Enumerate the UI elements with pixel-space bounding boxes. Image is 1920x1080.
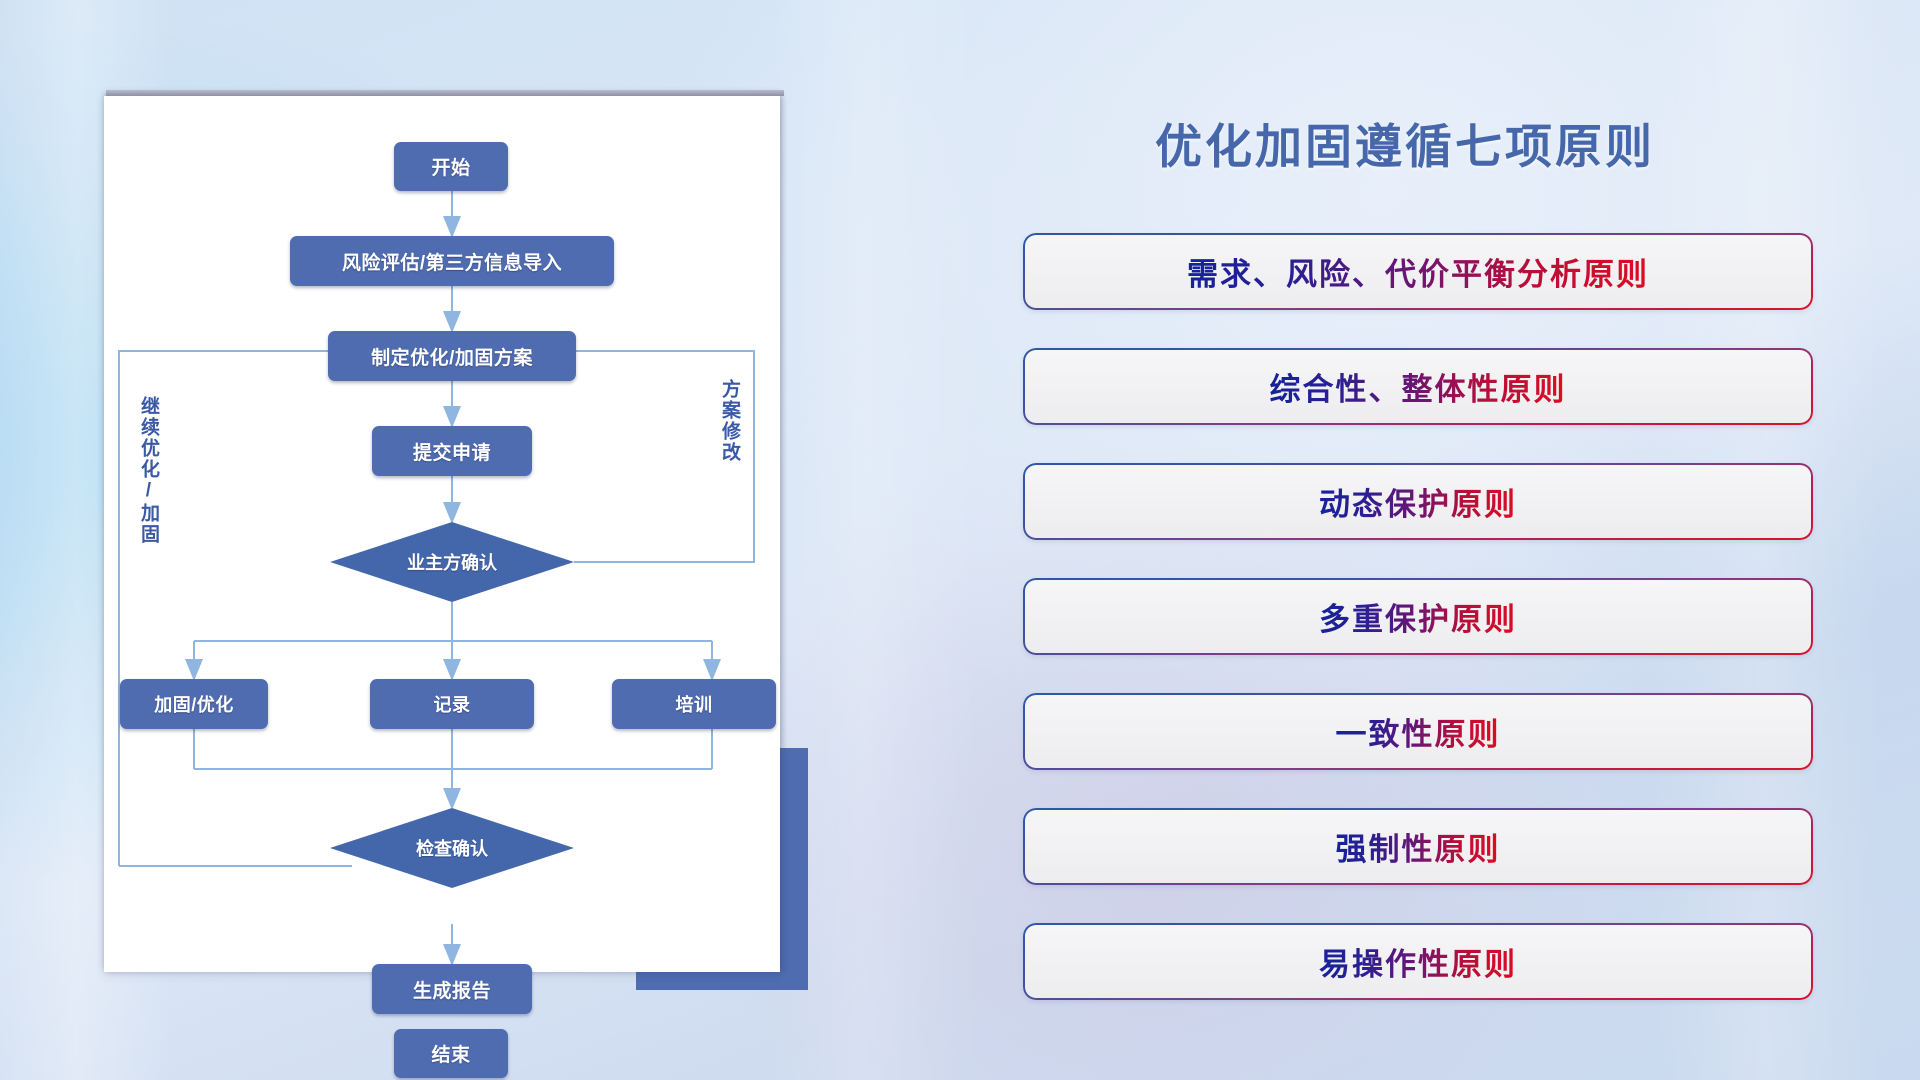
flow-node-submit[interactable]: 提交申请	[372, 426, 532, 476]
principle-label: 需求、风险、代价平衡分析原则	[1187, 249, 1649, 294]
principles-panel: 优化加固遵循七项原则 需求、风险、代价平衡分析原则 综合性、整体性原则 动态保护…	[1010, 0, 1920, 1080]
flow-node-inspection-confirm[interactable]: 检查确认	[330, 808, 574, 888]
flow-node-reinforce-label: 加固/优化	[154, 691, 234, 717]
flow-node-training[interactable]: 培训	[612, 679, 776, 729]
flow-edge-label-left-loop: 继续优化/加固	[138, 396, 158, 545]
principle-card[interactable]: 一致性原则	[1023, 693, 1813, 770]
principle-label: 综合性、整体性原则	[1270, 364, 1567, 409]
flow-node-plan[interactable]: 制定优化/加固方案	[328, 331, 576, 381]
flow-node-record-label: 记录	[434, 691, 471, 717]
flow-node-owner-confirm[interactable]: 业主方确认	[330, 522, 574, 602]
flow-node-end-label: 结束	[431, 1040, 470, 1067]
flow-node-start-label: 开始	[431, 153, 470, 180]
flowchart-card: 开始 风险评估/第三方信息导入 制定优化/加固方案 提交申请 业主方确认 加固/…	[104, 96, 780, 972]
principle-label: 动态保护原则	[1319, 479, 1517, 524]
principle-card[interactable]: 易操作性原则	[1023, 923, 1813, 1000]
principle-card[interactable]: 动态保护原则	[1023, 463, 1813, 540]
flow-node-owner-confirm-label: 业主方确认	[407, 549, 497, 575]
flow-node-training-label: 培训	[676, 691, 713, 717]
principles-list: 需求、风险、代价平衡分析原则 综合性、整体性原则 动态保护原则 多重保护原则 一…	[1023, 233, 1813, 1038]
flow-node-record[interactable]: 记录	[370, 679, 534, 729]
principle-label: 强制性原则	[1336, 824, 1501, 869]
flowchart: 开始 风险评估/第三方信息导入 制定优化/加固方案 提交申请 业主方确认 加固/…	[104, 96, 780, 972]
flow-node-report-label: 生成报告	[413, 976, 491, 1003]
principle-card[interactable]: 综合性、整体性原则	[1023, 348, 1813, 425]
flow-node-risk-assessment[interactable]: 风险评估/第三方信息导入	[290, 236, 614, 286]
page-title: 优化加固遵循七项原则	[1155, 108, 1655, 177]
principle-card[interactable]: 需求、风险、代价平衡分析原则	[1023, 233, 1813, 310]
principle-card[interactable]: 强制性原则	[1023, 808, 1813, 885]
principle-card[interactable]: 多重保护原则	[1023, 578, 1813, 655]
flow-node-plan-label: 制定优化/加固方案	[371, 343, 533, 370]
flow-node-report[interactable]: 生成报告	[372, 964, 532, 1014]
flow-edge-label-right-loop: 方案修改	[719, 379, 739, 463]
principle-label: 多重保护原则	[1319, 594, 1517, 639]
flow-node-submit-label: 提交申请	[413, 438, 491, 465]
flow-node-risk-assessment-label: 风险评估/第三方信息导入	[342, 248, 562, 275]
flow-node-end[interactable]: 结束	[394, 1029, 508, 1078]
flow-node-start[interactable]: 开始	[394, 142, 508, 191]
flow-node-inspection-confirm-label: 检查确认	[416, 835, 488, 861]
flow-node-reinforce[interactable]: 加固/优化	[120, 679, 268, 729]
principle-label: 一致性原则	[1336, 709, 1501, 754]
principle-label: 易操作性原则	[1319, 939, 1517, 984]
